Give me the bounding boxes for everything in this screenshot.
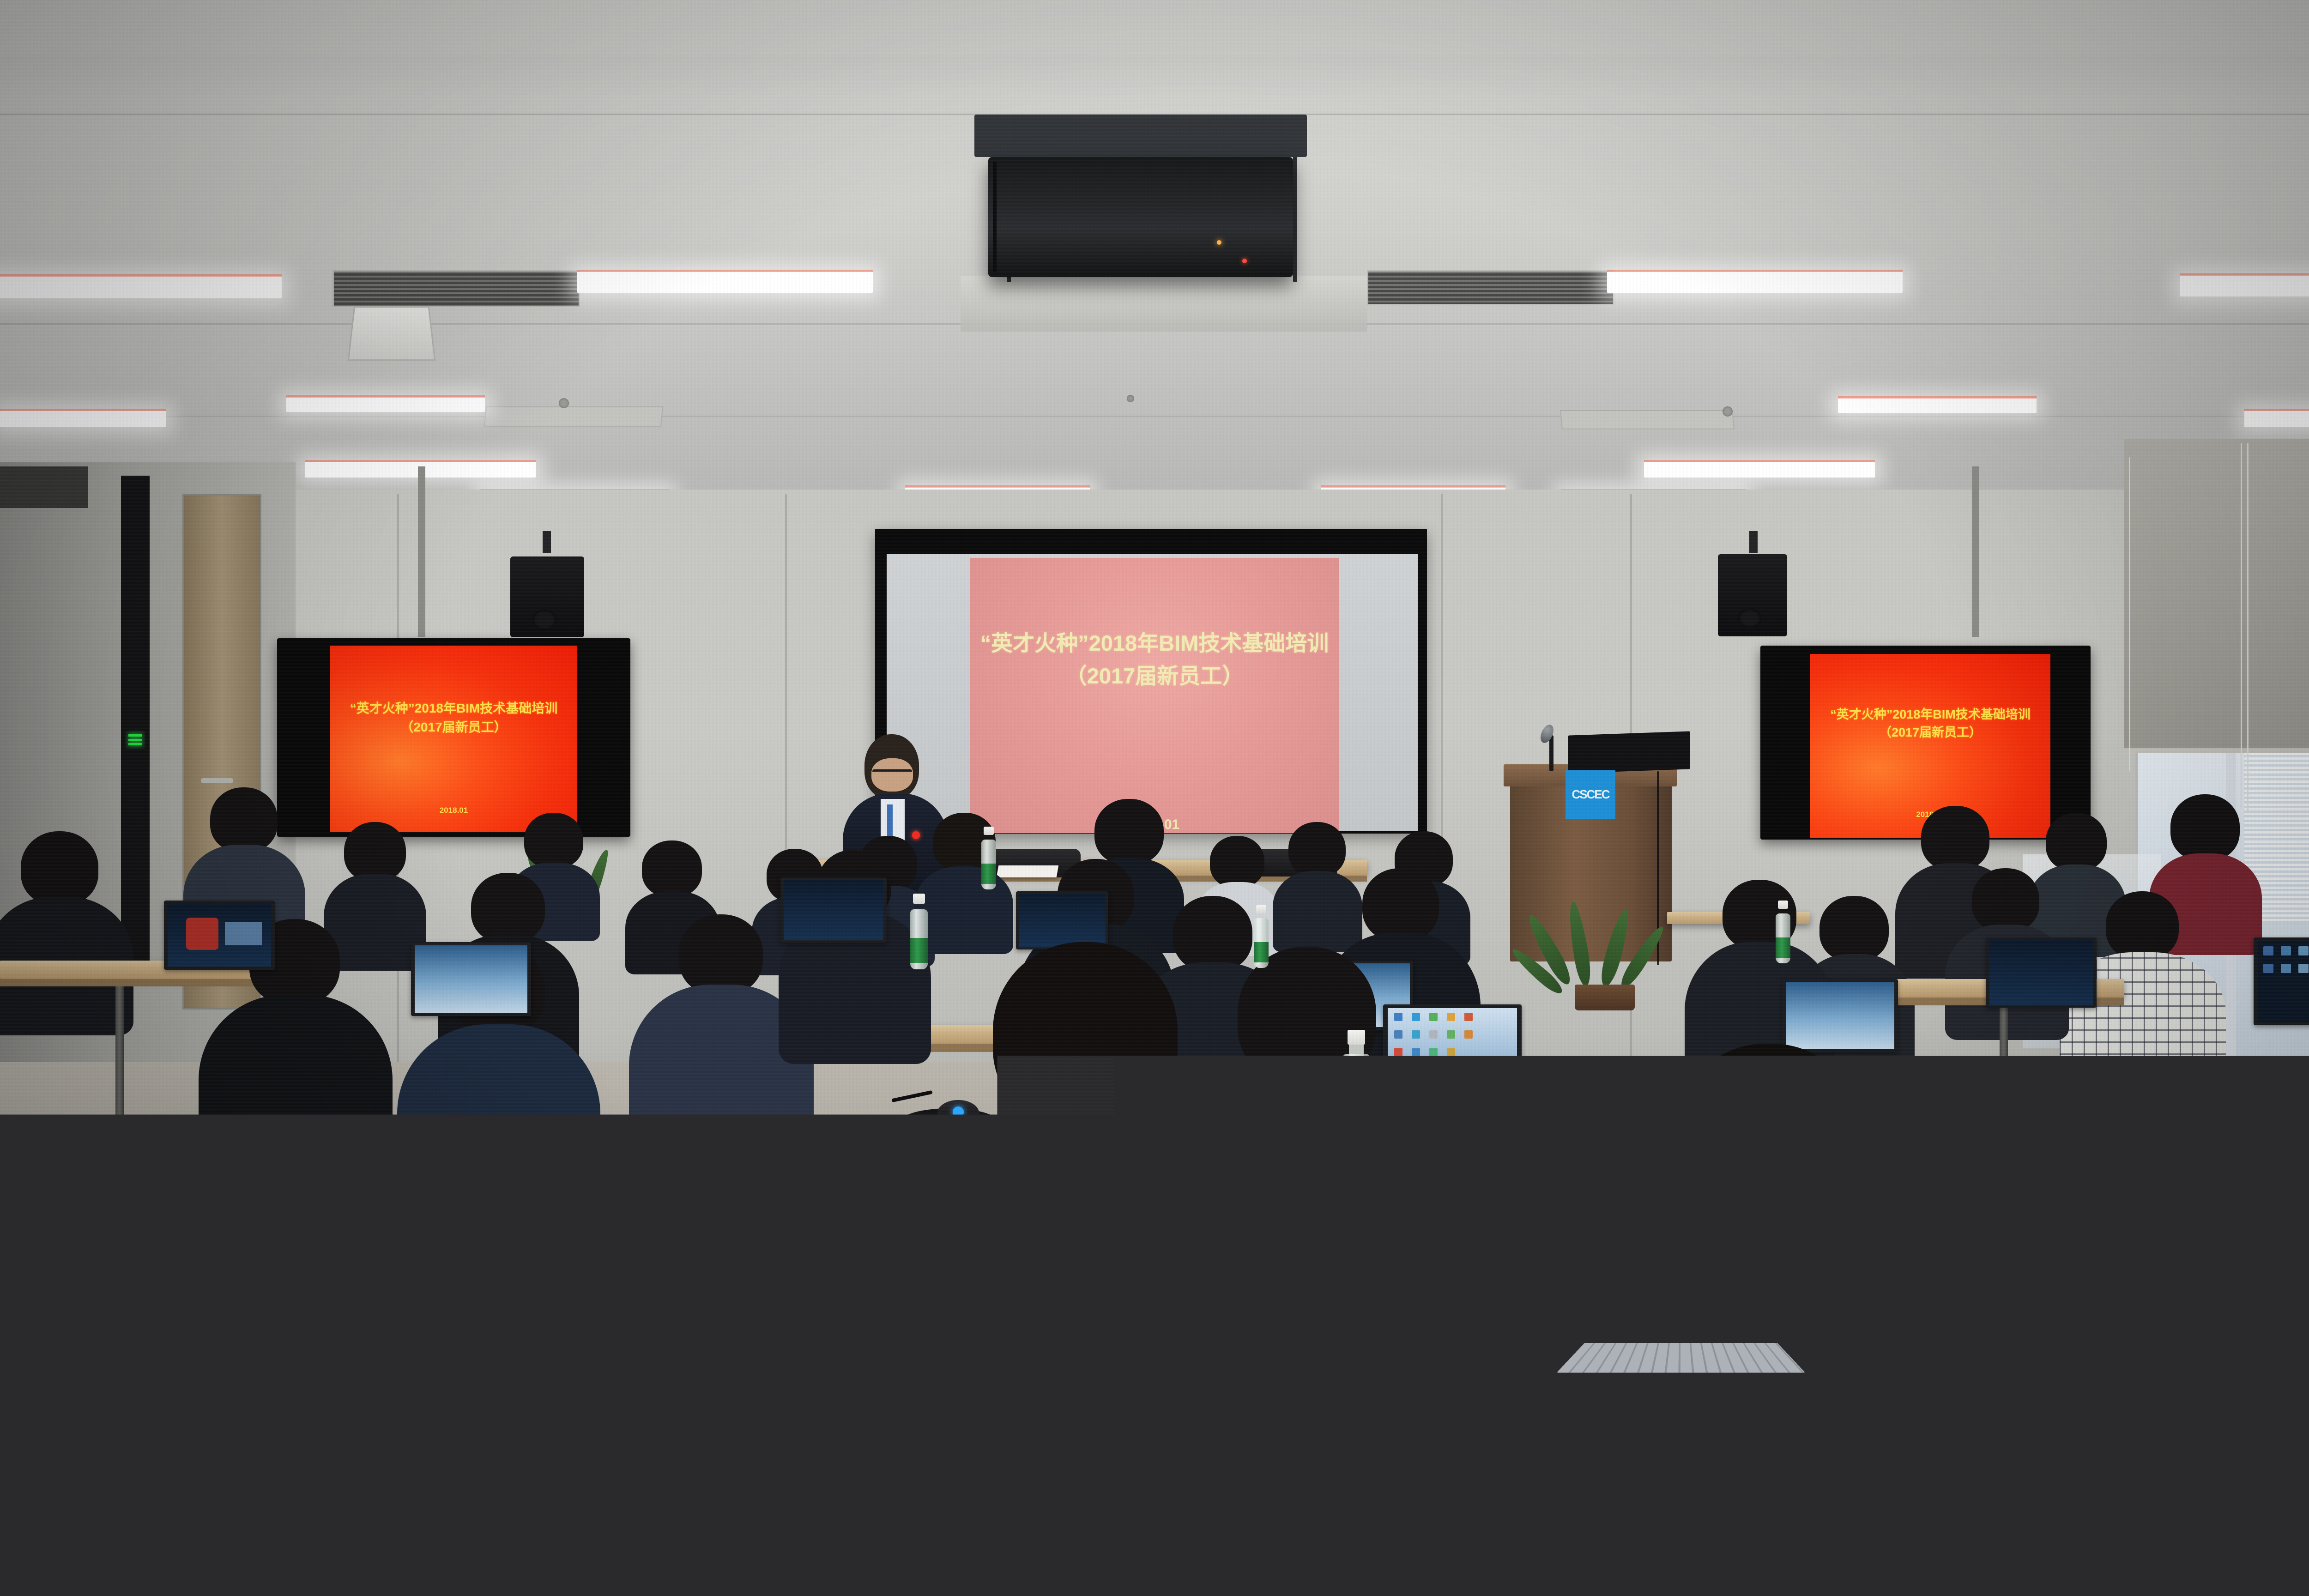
front-table-paper — [997, 865, 1059, 877]
floor-cable-3 — [1746, 1122, 1751, 1178]
sprinkler-head-3 — [1127, 395, 1134, 402]
right-stool-leg-1 — [2124, 1321, 2131, 1427]
left-display-date: 2018.01 — [440, 806, 468, 815]
blind-pull-cord-2[interactable] — [2247, 443, 2249, 813]
blind-pull-cord-1[interactable] — [2241, 443, 2242, 808]
door-handle[interactable] — [201, 778, 233, 783]
ceiling-band-top — [0, 0, 2309, 55]
ceiling-lamp-1 — [0, 276, 282, 298]
ceiling-lamp-14 — [1838, 398, 2037, 413]
left-wall-recess — [121, 476, 150, 965]
podium-logo-cscec: CSCEC — [1566, 770, 1615, 819]
hvac-vent-4 — [1560, 410, 1735, 429]
ceiling-lamp-7 — [0, 411, 166, 427]
floor-cable-1 — [942, 1288, 949, 1538]
left-display-title-line-2: （2017届新员工） — [400, 718, 507, 737]
right-display-pole — [1972, 466, 1979, 637]
exit-status-light — [126, 731, 145, 749]
potted-plant-right — [1552, 896, 1672, 1016]
ceiling-lamp-4 — [2180, 275, 2309, 296]
projected-slide: “英才火种”2018年BIM技术基础培训 （2017届新员工） 2018.01 — [970, 558, 1339, 833]
presenter-glasses — [872, 769, 912, 779]
mid-table-right-leg — [2000, 1005, 2008, 1158]
right-display-title-line-1: “英才火种”2018年BIM技术基础培训 — [1830, 706, 2031, 724]
speaker-bracket-left — [543, 531, 551, 553]
ceiling-projector[interactable] — [988, 157, 1293, 277]
slide-title-line-2: （2017届新员工） — [1065, 660, 1244, 693]
ceiling-downlight — [347, 307, 435, 361]
classroom-photo: “英才火种”2018年BIM技术基础培训 （2017届新员工） 2018.01 … — [0, 0, 2309, 1596]
projector-cable — [993, 162, 997, 272]
hvac-vent-2 — [1367, 270, 1614, 305]
hvac-vent-1 — [332, 270, 580, 307]
foreground-chair-2[interactable] — [208, 1432, 365, 1596]
speaker-bracket-right — [1749, 531, 1758, 553]
projector-lift-housing — [974, 115, 1307, 157]
striped-attendee-head — [993, 942, 1178, 1127]
foreground-chair-4[interactable] — [0, 1469, 194, 1596]
window-roller-blind-1[interactable] — [2124, 439, 2309, 753]
projector-power-led — [1217, 240, 1221, 245]
orange-jacket-on-chair — [868, 1519, 1524, 1596]
presenter-lapel-pin — [912, 831, 920, 839]
left-display-slide: “英才火种”2018年BIM技术基础培训 （2017届新员工） 2018.01 — [330, 646, 577, 832]
podium-mic-stand — [1549, 735, 1553, 771]
projector-lift-tray — [961, 276, 1367, 332]
right-display-slide: “英才火种”2018年BIM技术基础培训 （2017届新员工） 2018.01 — [1810, 654, 2050, 838]
cart-leg-1 — [2217, 1385, 2224, 1427]
left-display-pole — [418, 466, 425, 637]
front-nearest-table-right-edge — [1034, 1381, 1709, 1398]
blind-pull-cord-3[interactable] — [2129, 457, 2130, 771]
wall-speaker-right — [1718, 554, 1787, 636]
front-nearest-table-leg-2 — [854, 1351, 866, 1536]
projector-status-led — [1242, 259, 1247, 263]
ceiling-lamp-8 — [2244, 411, 2309, 427]
ceiling-lamp-6 — [1644, 462, 1875, 478]
foreground-chair-5[interactable] — [1644, 1432, 2198, 1596]
right-display-title-line-2: （2017届新员工） — [1879, 724, 1982, 742]
sprinkler-head-1 — [559, 398, 569, 408]
mid-chair-1[interactable] — [577, 1155, 716, 1261]
left-display-title-line-1: “英才火种”2018年BIM技术基础培训 — [350, 699, 558, 718]
ceiling-lamp-3 — [1607, 272, 1903, 293]
ceiling-lamp-2 — [577, 272, 873, 293]
left-wall-header — [0, 466, 88, 508]
mid-table-left-leg — [115, 986, 124, 1139]
ceiling-seam-3 — [0, 416, 2309, 417]
podium-monitor[interactable] — [1568, 731, 1690, 773]
wall-speaker-left — [510, 556, 584, 637]
cart-caster-1 — [2210, 1425, 2230, 1445]
slide-title-line-1: “英才火种”2018年BIM技术基础培训 — [980, 627, 1329, 660]
right-stool-base — [2106, 1422, 2230, 1430]
sprinkler-head-2 — [1723, 406, 1733, 417]
ceiling-lamp-13 — [286, 397, 485, 412]
mouse-led — [953, 1106, 964, 1118]
hvac-vent-3 — [484, 406, 664, 427]
equipment-cart[interactable] — [2198, 1247, 2309, 1389]
